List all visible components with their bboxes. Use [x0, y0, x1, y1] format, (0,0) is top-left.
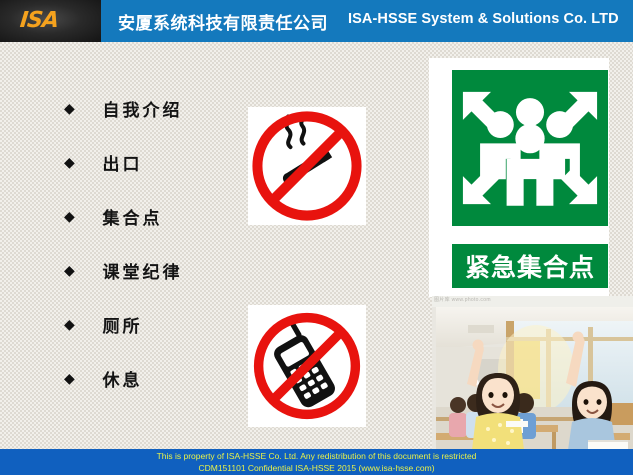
diamond-bullet-icon: ◆ [64, 262, 86, 279]
assembly-point-icon [452, 70, 608, 226]
classroom-photo-image [436, 307, 633, 450]
company-name-chinese: 安厦系统科技有限责任公司 [118, 9, 328, 34]
agenda-item-label: 出口 [90, 150, 142, 175]
list-item: ◆ 出口 [64, 150, 254, 204]
company-name-english: ISA-HSSE System & Solutions Co. LTD [348, 11, 619, 27]
emergency-assembly-point-sign: 紧急集合点 [429, 58, 609, 297]
list-item: ◆ 课堂纪律 [64, 258, 254, 312]
agenda-item-label: 厕所 [90, 312, 142, 337]
list-item: ◆ 自我介绍 [64, 96, 254, 150]
footer-bar: This is property of ISA-HSSE Co. Ltd. An… [0, 449, 633, 475]
no-smoking-icon [248, 107, 366, 225]
slide-canvas: ISA 安厦系统科技有限责任公司 ISA-HSSE System & Solut… [0, 0, 633, 475]
classroom-photo [436, 307, 633, 450]
no-mobile-phone-sign [248, 305, 366, 427]
isa-logo: ISA [19, 8, 60, 33]
assembly-point-caption: 紧急集合点 [452, 244, 608, 288]
list-item: ◆ 休息 [64, 366, 254, 420]
footer-document-code-line: CDM151101 Confidential ISA-HSSE 2015 (ww… [0, 462, 633, 474]
slide-header: ISA 安厦系统科技有限责任公司 ISA-HSSE System & Solut… [0, 0, 633, 42]
photo-watermark: 图片库 www.photo.com [432, 296, 633, 307]
footer-copyright-line: This is property of ISA-HSSE Co. Ltd. An… [0, 450, 633, 462]
classroom-photo-container: 图片库 www.photo.com [432, 296, 633, 450]
diamond-bullet-icon: ◆ [64, 316, 86, 333]
agenda-item-label: 休息 [90, 366, 142, 391]
no-smoking-sign [248, 107, 366, 225]
diamond-bullet-icon: ◆ [64, 100, 86, 117]
list-item: ◆ 厕所 [64, 312, 254, 366]
agenda-item-label: 课堂纪律 [90, 258, 182, 283]
no-mobile-phone-icon [248, 305, 366, 427]
agenda-list: ◆ 自我介绍 ◆ 出口 ◆ 集合点 ◆ 课堂纪律 ◆ 厕所 ◆ 休息 [64, 96, 254, 420]
agenda-item-label: 集合点 [90, 204, 162, 229]
diamond-bullet-icon: ◆ [64, 154, 86, 171]
diamond-bullet-icon: ◆ [64, 208, 86, 225]
diamond-bullet-icon: ◆ [64, 370, 86, 387]
logo-panel: ISA [0, 0, 101, 42]
header-title-bar: 安厦系统科技有限责任公司 ISA-HSSE System & Solutions… [101, 0, 633, 42]
list-item: ◆ 集合点 [64, 204, 254, 258]
agenda-item-label: 自我介绍 [90, 96, 182, 121]
